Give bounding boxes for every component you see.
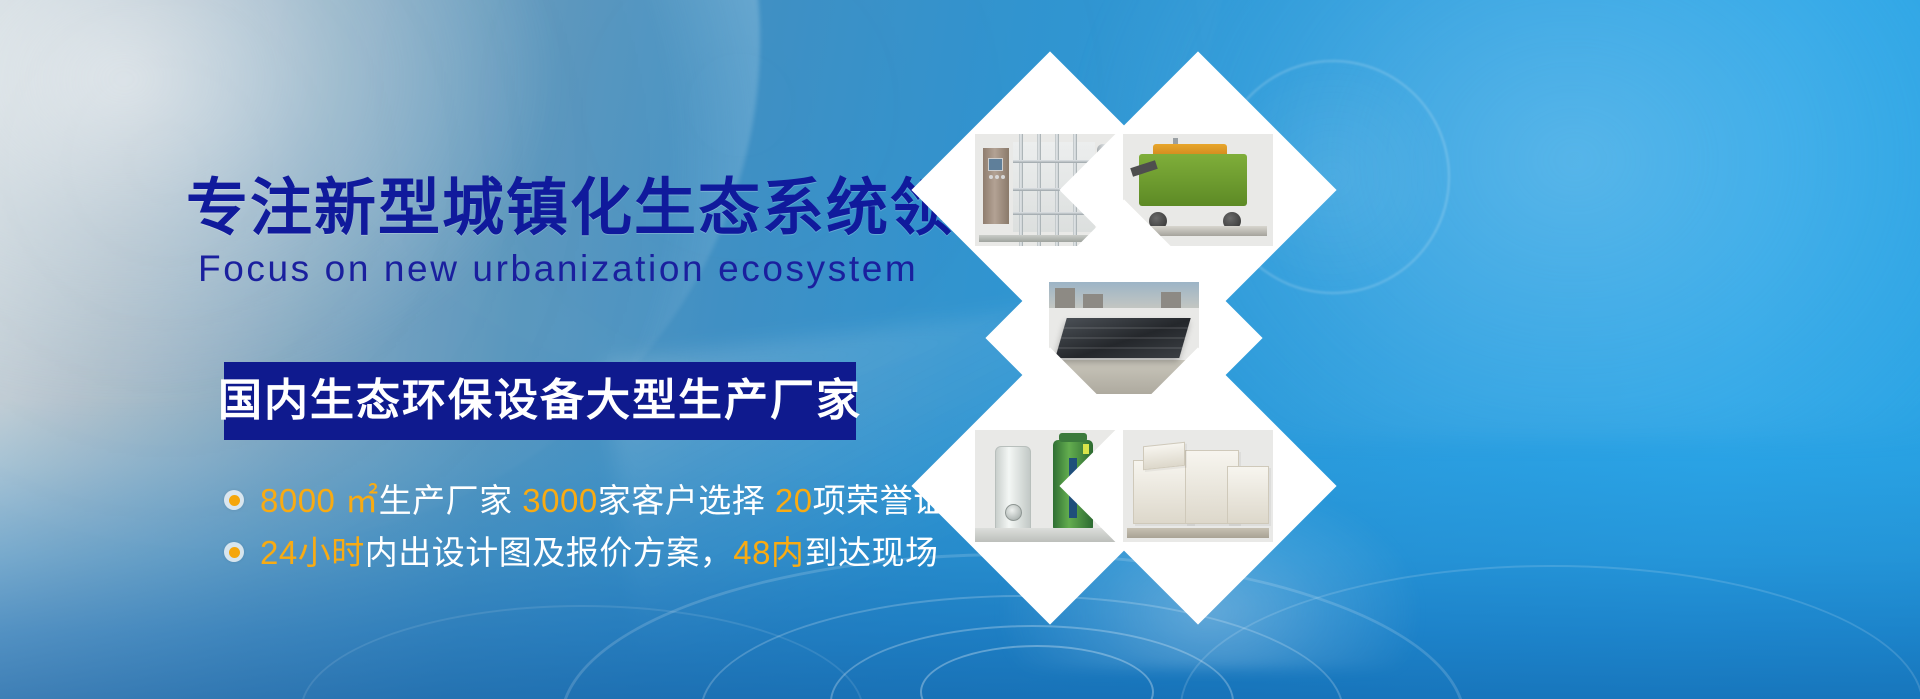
banner-bullet-item: 8000 ㎡生产厂家 3000家客户选择 20项荣誉证书 — [224, 474, 904, 526]
banner-bullet-text: 8000 ㎡生产厂家 3000家客户选择 20项荣誉证书 — [260, 484, 980, 517]
stacked-white-blocks-image — [1123, 430, 1273, 542]
banner-ribbon-text: 国内生态环保设备大型生产厂家 — [218, 379, 862, 423]
bullet-highlight-text: 20 — [775, 482, 813, 519]
bullet-plain-text: 生产厂家 — [379, 482, 523, 519]
banner-text-block: 专注新型城镇化生态系统领域 Focus on new urbanization … — [0, 0, 920, 699]
bullet-highlight-text: 24小时 — [260, 534, 365, 571]
bullet-plain-text: 到达现场 — [804, 534, 938, 571]
bullet-plain-text: 家客户选择 — [598, 482, 775, 519]
banner-headline: 专注新型城镇化生态系统领域 — [186, 178, 1018, 240]
banner-ribbon: 国内生态环保设备大型生产厂家 — [224, 362, 856, 440]
banner-bullet-item: 24小时内出设计图及报价方案，48内到达现场 — [224, 526, 904, 578]
bullet-plain-text: 内出设计图及报价方案， — [365, 534, 734, 571]
bullet-dot-icon — [224, 542, 244, 562]
bullet-highlight-text: 8000 ㎡ — [260, 482, 379, 519]
promo-banner: 专注新型城镇化生态系统领域 Focus on new urbanization … — [0, 0, 1920, 699]
banner-bullet-list: 8000 ㎡生产厂家 3000家客户选择 20项荣誉证书24小时内出设计图及报价… — [224, 474, 904, 578]
bullet-highlight-text: 48内 — [733, 534, 804, 571]
product-diamond-gallery — [914, 54, 1334, 474]
banner-subheadline-english: Focus on new urbanization ecosystem — [198, 250, 918, 287]
banner-bullet-text: 24小时内出设计图及报价方案，48内到达现场 — [260, 536, 938, 569]
bullet-highlight-text: 3000 — [522, 482, 597, 519]
bullet-dot-icon — [224, 490, 244, 510]
